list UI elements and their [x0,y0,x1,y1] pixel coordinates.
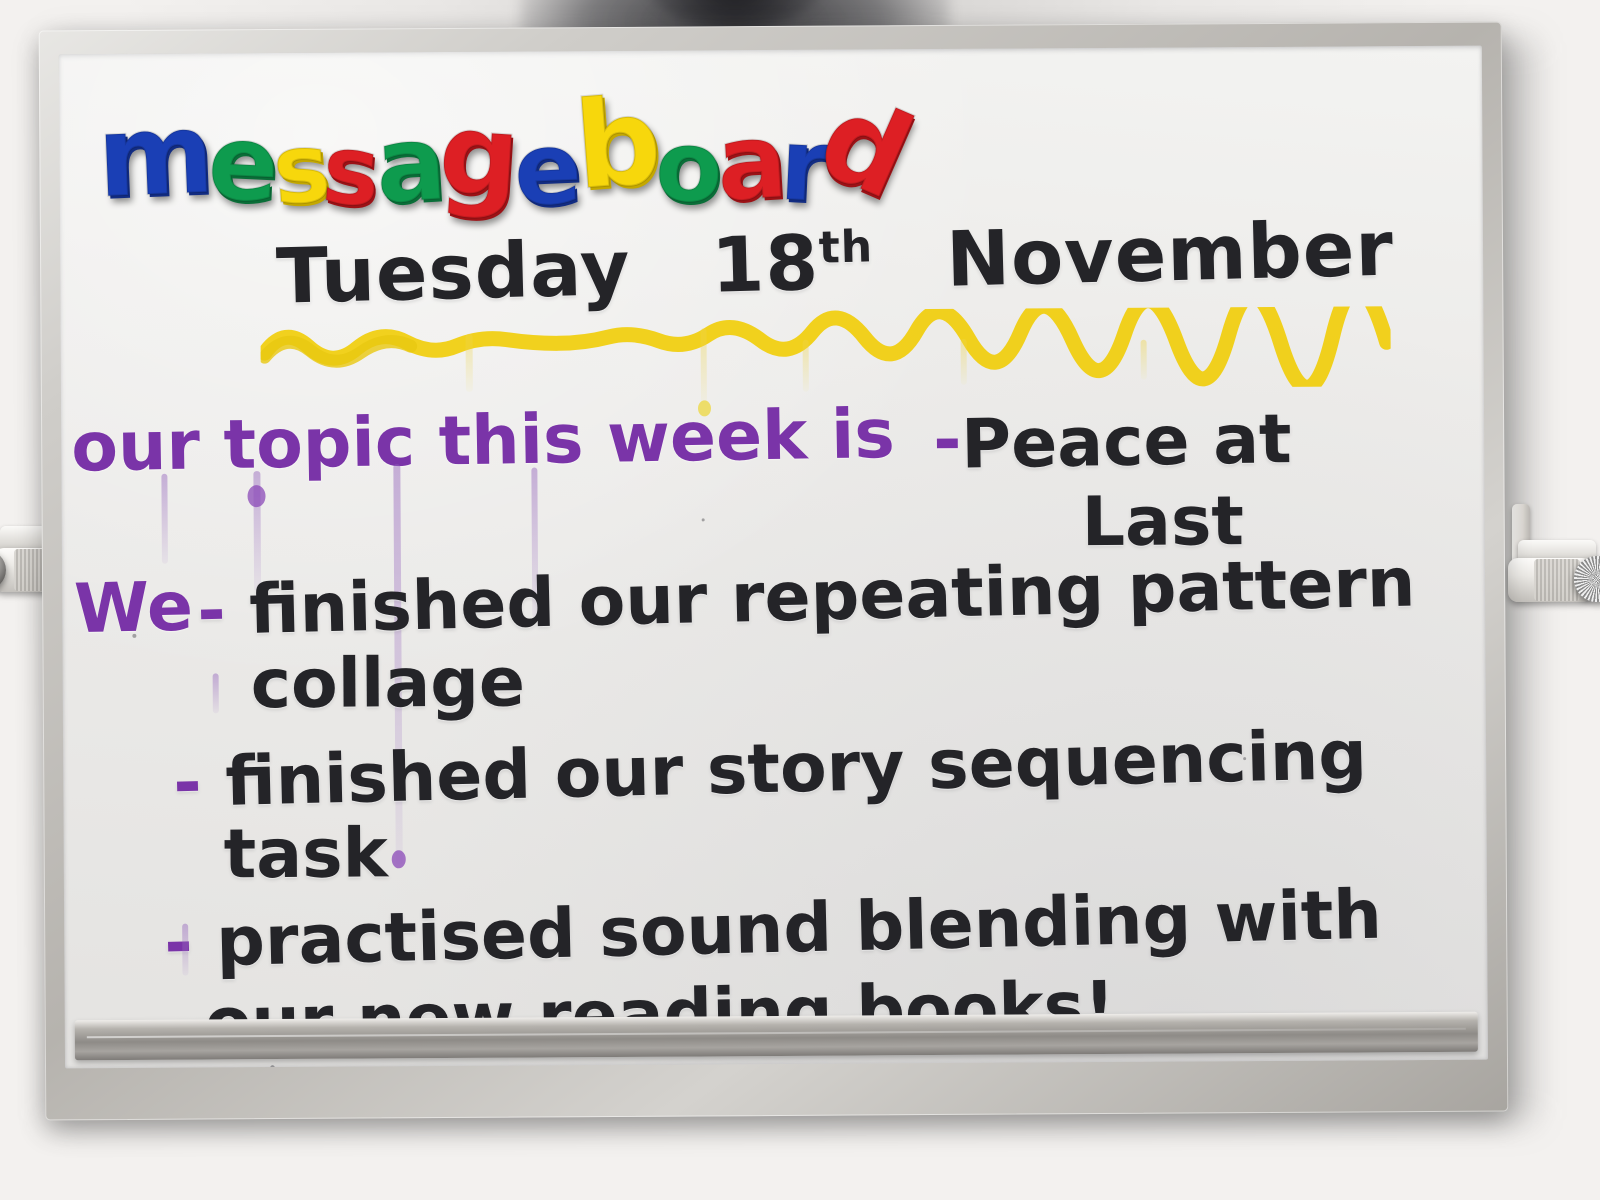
yellow-wavy-underline [260,306,1390,393]
purple-drip [182,924,188,976]
date-day: 18 [710,218,820,310]
surface-speck [132,634,136,638]
magnetic-letter-m-0[interactable]: m [95,97,214,214]
purple-drip-blob [247,485,265,507]
whiteboard[interactable]: messageboard Tuesday 18th November [39,22,1509,1121]
topic-label: our topic this week is [71,395,896,488]
bullet-marker: - [163,904,193,984]
date-heading: Tuesday 18th November [275,203,1395,320]
magnetic-letter-glyph: e [206,110,279,217]
magnetic-letter-glyph: m [95,97,214,214]
bullet-marker: - [172,743,202,823]
purple-drip [161,474,168,564]
magnetic-letter-e-1[interactable]: e [206,110,279,217]
bullet-1-line2: collage [250,644,525,725]
surface-speck [702,518,705,521]
surface-speck [1243,757,1246,760]
bullet-1-text: finished our repeating pattern [248,543,1416,649]
purple-drip-blob [392,850,406,868]
magnetic-letters-header[interactable]: messageboard [97,64,1398,212]
yellow-drip [803,340,809,392]
yellow-drip [701,328,707,406]
date-month: November [945,203,1395,303]
bullet-3-text: practised sound blending with [215,876,1382,982]
magnetic-letter-glyph: b [570,82,663,208]
yellow-drip [961,339,967,385]
surface-speck [270,1065,275,1068]
magnetic-letter-glyph: g [436,97,521,214]
pen-tray-highlight [87,1028,1466,1038]
bullet-marker: - [196,571,226,651]
yellow-drip [466,334,473,392]
date-day-suffix: th [818,221,874,273]
yellow-drip [1141,340,1147,380]
bullet-2-line1: - finished our story sequencing [172,716,1367,823]
bullet-2-line2: task [223,814,388,894]
magnetic-letter-g-5[interactable]: g [436,97,521,214]
pen-tray[interactable] [75,1012,1478,1061]
magnetic-letter-glyph: d [805,78,926,217]
purple-drip [213,673,219,713]
whiteboard-surface[interactable]: messageboard Tuesday 18th November [59,46,1488,1069]
handwritten-notes: Tuesday 18th November our topic this wee… [60,196,1488,1009]
topic-value-line1: Peace at [961,400,1293,484]
topic-dash: - [933,401,962,480]
date-weekday: Tuesday [275,223,631,321]
bullet-1-line1: - finished our repeating pattern [196,543,1416,651]
magnetic-letter-b-7[interactable]: b [570,82,663,208]
magnetic-letter-d-11[interactable]: d [805,78,926,217]
